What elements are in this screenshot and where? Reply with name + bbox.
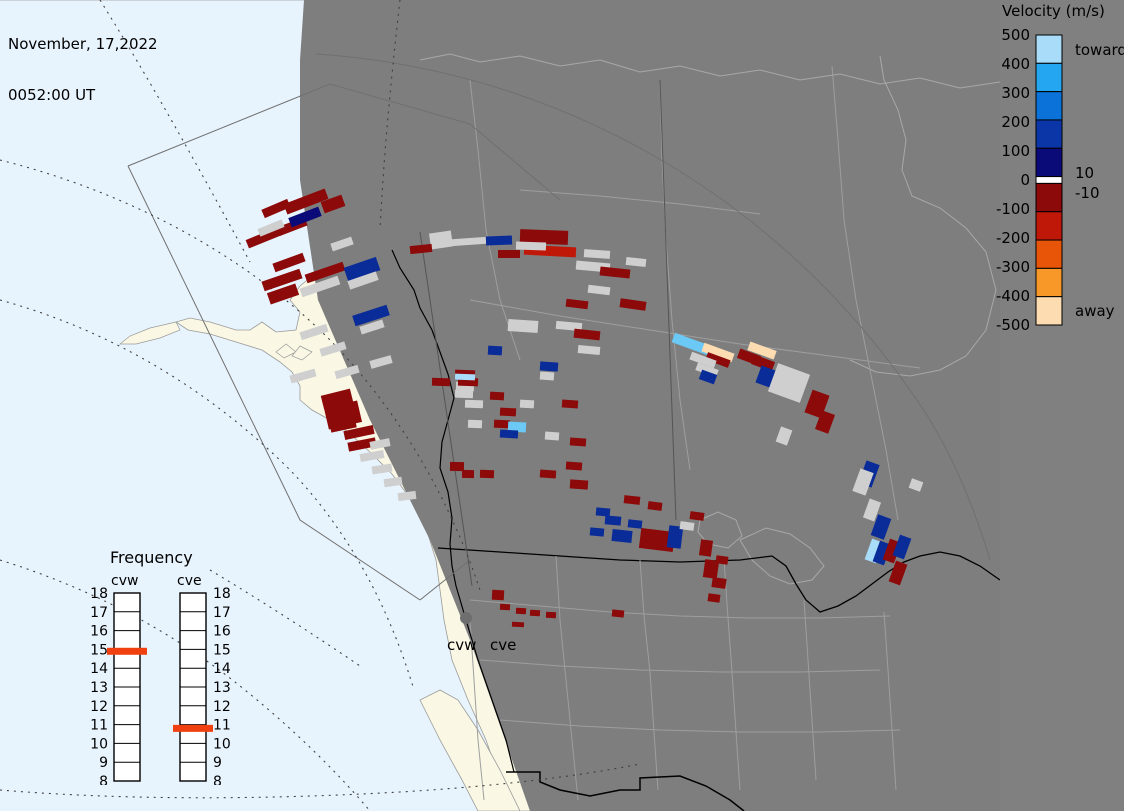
velocity-cell [566, 461, 583, 470]
frequency-tick-label: 8 [213, 774, 222, 785]
colorbar-band [1036, 120, 1062, 148]
frequency-legend: Frequency cvw cve 18171615141312111098 1… [80, 545, 260, 785]
velocity-cell [546, 612, 556, 619]
velocity-cell [450, 462, 464, 471]
radar-site-marker [460, 612, 472, 624]
velocity-cell [492, 590, 505, 601]
velocity-cell [490, 392, 504, 401]
velocity-cell [708, 593, 721, 603]
colorbar-tick-label: -100 [996, 200, 1030, 218]
frequency-bar-label-cvw: cvw [111, 573, 138, 589]
velocity-cell [486, 236, 512, 246]
velocity-cell [570, 437, 587, 446]
velocity-cell [508, 319, 539, 333]
colorbar-tick-label: 300 [1001, 84, 1030, 102]
colorbar-tick-label: -500 [996, 316, 1030, 334]
velocity-cell [699, 539, 713, 557]
velocity-cell [465, 400, 483, 409]
velocity-cell [530, 610, 540, 617]
frequency-marker [107, 648, 147, 655]
frequency-tick-label: 17 [90, 605, 108, 621]
velocity-cell [540, 361, 559, 371]
velocity-cell [648, 501, 663, 511]
velocity-cell [500, 430, 518, 439]
colorbar-band [1036, 297, 1062, 325]
frequency-tick-label: 16 [90, 624, 108, 640]
colorbar-band [1036, 92, 1062, 120]
velocity-cell [716, 555, 729, 565]
frequency-tick-label: 18 [90, 586, 108, 602]
frequency-bar-label-cve: cve [177, 573, 202, 589]
colorbar-band [1036, 63, 1062, 91]
velocity-cell [488, 346, 502, 356]
frequency-tick-label: 13 [213, 680, 231, 696]
frequency-tick-label: 14 [213, 661, 231, 677]
velocity-cell [596, 507, 611, 516]
frequency-bar-cve: 18171615141312111098 [173, 586, 231, 785]
timestamp-block: November, 17,2022 0052:00 UT [8, 2, 158, 138]
velocity-cell [612, 609, 625, 617]
velocity-cell [494, 420, 510, 429]
colorbar-band [1036, 35, 1062, 63]
frequency-tick-label: 17 [213, 605, 231, 621]
colorbar-band [1036, 212, 1062, 240]
colorbar-toward-label: toward [1075, 41, 1124, 59]
velocity-cell [624, 495, 641, 505]
velocity-cell [432, 378, 450, 387]
velocity-cell [516, 241, 546, 250]
velocity-cell [480, 470, 494, 478]
time-label: 0052:00 UT [8, 87, 158, 104]
frequency-bar-cvw: 18171615141312111098 [90, 586, 147, 785]
colorbar-band [1036, 177, 1062, 184]
colorbar-band [1036, 268, 1062, 296]
frequency-legend-title: Frequency [110, 548, 193, 567]
frequency-tick-label: 11 [90, 718, 108, 734]
velocity-cell [455, 374, 475, 381]
velocity-cell [520, 400, 534, 409]
velocity-cell [540, 469, 557, 478]
radar-map-view: cvw cve November, 17,2022 0052:00 UT Fre… [0, 0, 1124, 811]
colorbar-band [1036, 148, 1062, 176]
colorbar-tick-label: 0 [1020, 171, 1030, 189]
colorbar-away-label: away [1075, 302, 1115, 320]
colorbar-title: Velocity (m/s) [1002, 2, 1105, 20]
colorbar-ticks: 5004003002001000-100-200-300-400-500 [996, 26, 1030, 334]
colorbar-tick-label: 500 [1001, 26, 1030, 44]
velocity-cell [590, 527, 605, 536]
frequency-tick-label: 15 [213, 642, 231, 658]
velocity-cell [500, 408, 516, 417]
velocity-cell [562, 399, 579, 408]
velocity-cell [512, 622, 524, 628]
velocity-cell [540, 372, 555, 381]
frequency-tick-label: 10 [90, 736, 108, 752]
colorbar-tick-label: 200 [1001, 113, 1030, 131]
velocity-cell [468, 420, 482, 428]
colorbar-bands [1036, 35, 1062, 325]
velocity-cell [711, 577, 726, 589]
colorbar-band [1036, 183, 1062, 211]
velocity-cell [545, 432, 560, 441]
frequency-tick-label: 13 [90, 680, 108, 696]
frequency-tick-label: 18 [213, 586, 231, 602]
frequency-tick-label: 15 [90, 642, 108, 658]
velocity-cell [462, 470, 474, 478]
frequency-tick-label: 12 [213, 699, 231, 715]
velocity-colorbar: Velocity (m/s) 5004003002001000-100-200-… [984, 0, 1124, 340]
velocity-cell [500, 604, 510, 611]
colorbar-tick-label: -200 [996, 229, 1030, 247]
frequency-tick-label: 9 [99, 755, 108, 771]
frequency-tick-label: 9 [213, 755, 222, 771]
date-label: November, 17,2022 [8, 36, 158, 53]
velocity-cell [516, 608, 526, 615]
velocity-cell [455, 390, 473, 399]
frequency-tick-label: 11 [213, 718, 231, 734]
frequency-tick-label: 10 [213, 736, 231, 752]
velocity-cell [605, 515, 622, 525]
velocity-cell [611, 529, 632, 543]
colorbar-gs-upper-label: 10 [1075, 164, 1094, 182]
frequency-tick-label: 12 [90, 699, 108, 715]
frequency-marker [173, 725, 213, 732]
velocity-cell [570, 479, 589, 489]
velocity-cell [628, 519, 643, 528]
colorbar-tick-label: -400 [996, 287, 1030, 305]
colorbar-tick-label: 400 [1001, 55, 1030, 73]
frequency-tick-label: 16 [213, 624, 231, 640]
colorbar-gs-lower-label: -10 [1075, 184, 1100, 202]
velocity-cell [429, 231, 453, 250]
velocity-cell [498, 250, 520, 258]
frequency-tick-label: 8 [99, 774, 108, 785]
colorbar-tick-label: 100 [1001, 142, 1030, 160]
colorbar-band [1036, 240, 1062, 268]
colorbar-tick-label: -300 [996, 258, 1030, 276]
frequency-tick-label: 14 [90, 661, 108, 677]
